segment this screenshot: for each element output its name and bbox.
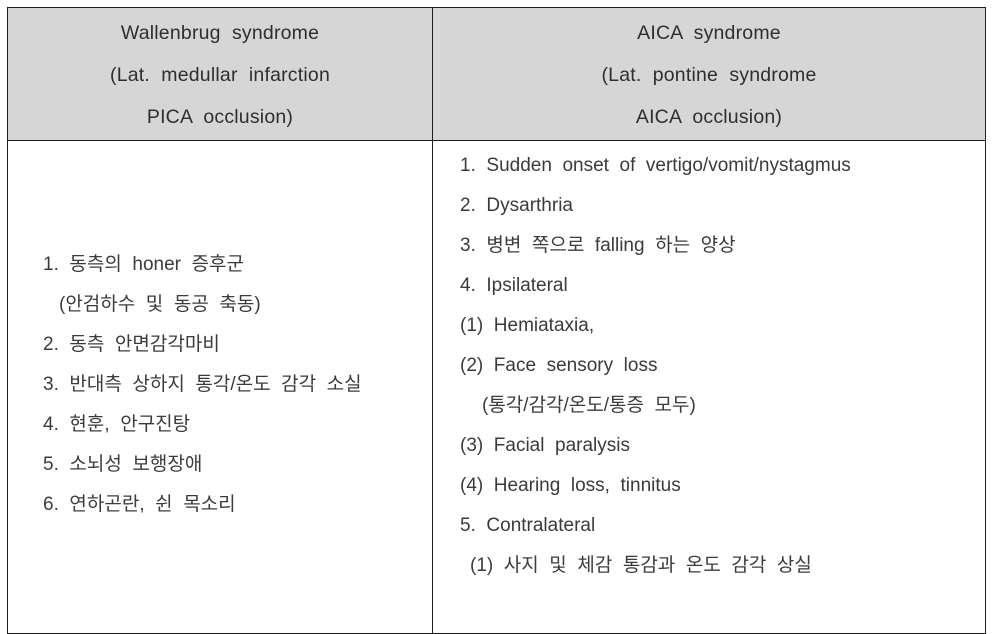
symptom-line: 1. Sudden onset of vertigo/vomit/nystagm… <box>460 146 985 186</box>
symptom-line: 5. Contralateral <box>460 506 985 546</box>
symptom-line: (4) Hearing loss, tinnitus <box>460 466 985 506</box>
symptom-line: 4. Ipsilateral <box>460 266 985 306</box>
header-cell-aica: AICA syndrome (Lat. pontine syndrome AIC… <box>433 8 986 141</box>
symptom-list-wallenberg: 1. 동측의 honer 증후군 (안검하수 및 동공 축동) 2. 동측 안면… <box>8 141 432 525</box>
header-line: AICA syndrome <box>439 12 979 54</box>
header-line: PICA occlusion) <box>14 96 426 138</box>
symptom-line: 1. 동측의 honer 증후군 <box>43 245 432 285</box>
symptom-line: 3. 반대측 상하지 통각/온도 감각 소실 <box>43 365 432 405</box>
table-header: Wallenbrug syndrome (Lat. medullar infar… <box>8 8 986 141</box>
symptom-line: 4. 현훈, 안구진탕 <box>43 405 432 445</box>
symptom-line: (통각/감각/온도/통증 모두) <box>460 386 985 426</box>
header-lines-wallenberg: Wallenbrug syndrome (Lat. medullar infar… <box>8 8 432 140</box>
symptom-line: 3. 병변 쪽으로 falling 하는 양상 <box>460 226 985 266</box>
header-row: Wallenbrug syndrome (Lat. medullar infar… <box>8 8 986 141</box>
symptom-line: 5. 소뇌성 보행장애 <box>43 445 432 485</box>
header-line: AICA occlusion) <box>439 96 979 138</box>
syndrome-comparison-table: Wallenbrug syndrome (Lat. medullar infar… <box>7 7 986 634</box>
header-lines-aica: AICA syndrome (Lat. pontine syndrome AIC… <box>433 8 985 140</box>
symptom-line: 2. 동측 안면감각마비 <box>43 325 432 365</box>
symptom-list-aica: 1. Sudden onset of vertigo/vomit/nystagm… <box>433 141 985 586</box>
header-line: Wallenbrug syndrome <box>14 12 426 54</box>
page-root: Wallenbrug syndrome (Lat. medullar infar… <box>0 0 1001 623</box>
symptom-line: 6. 연하곤란, 쉰 목소리 <box>43 485 432 525</box>
table-body: 1. 동측의 honer 증후군 (안검하수 및 동공 축동) 2. 동측 안면… <box>8 141 986 634</box>
body-cell-wallenberg: 1. 동측의 honer 증후군 (안검하수 및 동공 축동) 2. 동측 안면… <box>8 141 433 634</box>
header-line: (Lat. medullar infarction <box>14 54 426 96</box>
symptom-line: (1) 사지 및 체감 통감과 온도 감각 상실 <box>460 546 985 586</box>
symptom-line: (안검하수 및 동공 축동) <box>43 285 432 325</box>
symptom-line: (2) Face sensory loss <box>460 346 985 386</box>
header-cell-wallenberg: Wallenbrug syndrome (Lat. medullar infar… <box>8 8 433 141</box>
body-cell-aica: 1. Sudden onset of vertigo/vomit/nystagm… <box>433 141 986 634</box>
symptom-line: (1) Hemiataxia, <box>460 306 985 346</box>
symptom-line: (3) Facial paralysis <box>460 426 985 466</box>
header-line: (Lat. pontine syndrome <box>439 54 979 96</box>
symptom-line: 2. Dysarthria <box>460 186 985 226</box>
body-row: 1. 동측의 honer 증후군 (안검하수 및 동공 축동) 2. 동측 안면… <box>8 141 986 634</box>
